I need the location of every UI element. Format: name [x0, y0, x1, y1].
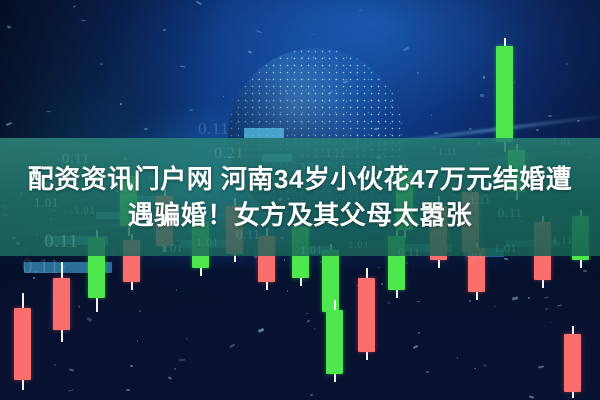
headline-block: 配资资讯门户网 河南34岁小伙花47万元结婚遭 遇骗婚！女方及其父母太嚣张 [0, 150, 600, 246]
headline-line-2: 遇骗婚！女方及其父母太嚣张 [128, 200, 473, 232]
headline-line-1: 配资资讯门户网 河南34岁小伙花47万元结婚遭 [28, 164, 573, 196]
banner-image: 0.110.110.111.011.011.011.110.110.211.01… [0, 0, 600, 400]
